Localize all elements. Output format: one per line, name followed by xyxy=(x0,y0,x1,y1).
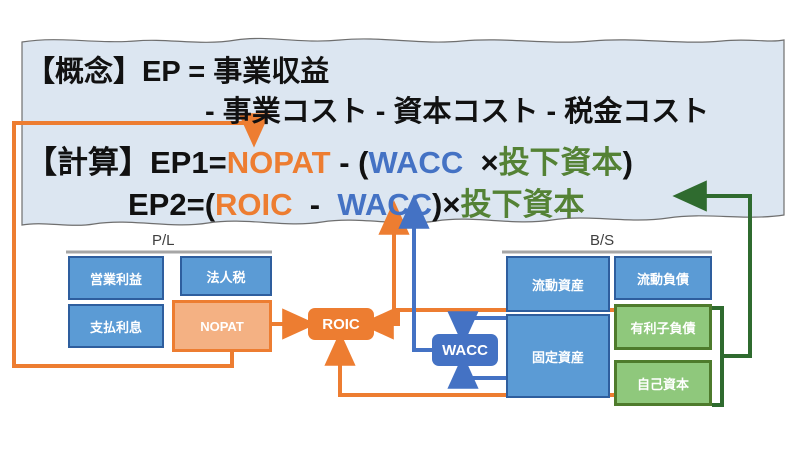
bs-box-current-assets-label: 流動資産 xyxy=(532,275,584,294)
roic-node-label: ROIC xyxy=(322,316,360,333)
pl-title: P/L xyxy=(152,232,175,249)
ep2-name: EP2 xyxy=(128,187,187,222)
pl-box-nopat: NOPAT xyxy=(172,300,272,352)
concept-line-1: 【概念】EP = 事業収益 xyxy=(26,48,329,90)
ep2-term-wacc: WACC xyxy=(337,187,432,222)
ep1-term-nopat: NOPAT xyxy=(227,145,331,180)
concept-line-2: - 事業コスト - 資本コスト - 税金コスト xyxy=(205,88,709,130)
bs-box-current-liabilities-label: 流動負債 xyxy=(637,269,689,288)
bs-box-shareholders-equity: 自己資本 xyxy=(614,360,712,406)
wacc-node-label: WACC xyxy=(442,342,488,359)
pl-box-corporate-tax: 法人税 xyxy=(180,256,272,296)
blue-wacc-to-formula-line xyxy=(414,208,432,350)
bs-box-current-liabilities: 流動負債 xyxy=(614,256,712,300)
ep2-times: × xyxy=(442,187,460,222)
ep2-term-roic: ROIC xyxy=(215,187,293,222)
pl-box-interest-expense-label: 支払利息 xyxy=(90,317,142,336)
ep1-term-capital: 投下資本 xyxy=(499,145,623,180)
roic-node: ROIC xyxy=(308,308,374,340)
pl-box-nopat-label: NOPAT xyxy=(200,319,244,334)
concept-label: 【概念】EP xyxy=(26,56,180,88)
pl-box-interest-expense: 支払利息 xyxy=(68,304,164,348)
calc-line-ep2: EP2=(ROIC - WACC)×投下資本 xyxy=(128,179,584,224)
calc-label: 【計算】 xyxy=(26,145,150,180)
pl-box-operating-profit: 営業利益 xyxy=(68,256,164,300)
concept-equals: = xyxy=(180,56,213,88)
bs-box-interest-bearing-debt: 有利子負債 xyxy=(614,304,712,350)
blue-bs-lower-to-wacc-arrow xyxy=(463,368,506,378)
bs-box-fixed-assets: 固定資産 xyxy=(506,314,610,398)
ep1-times: × xyxy=(463,145,498,180)
ep1-term-wacc: WACC xyxy=(369,145,464,180)
green-bracket xyxy=(712,308,722,405)
pl-box-corporate-tax-label: 法人税 xyxy=(206,267,245,286)
orange-roic-to-formula-line xyxy=(378,214,394,324)
pl-box-operating-profit-label: 営業利益 xyxy=(90,269,142,288)
ep1-equals: = xyxy=(209,145,227,180)
ep1-close-paren: ) xyxy=(623,145,633,180)
calc-line-ep1: 【計算】EP1=NOPAT - (WACC ×投下資本) xyxy=(26,137,633,182)
ep2-minus: - xyxy=(293,187,338,222)
bs-title: B/S xyxy=(590,232,614,249)
ep1-name: EP1 xyxy=(150,145,209,180)
ep2-close-paren: ) xyxy=(432,187,442,222)
ep1-minus-open: - ( xyxy=(331,145,369,180)
bs-box-shareholders-equity-label: 自己資本 xyxy=(637,374,689,393)
bs-box-fixed-assets-label: 固定資産 xyxy=(532,347,584,366)
wacc-node: WACC xyxy=(432,334,498,366)
ep2-term-capital: 投下資本 xyxy=(460,187,584,222)
concept-revenue: 事業収益 xyxy=(213,56,329,88)
bs-box-interest-bearing-debt-label: 有利子負債 xyxy=(630,318,695,337)
diagram-canvas: 【概念】EP = 事業収益 - 事業コスト - 資本コスト - 税金コスト 【計… xyxy=(0,0,800,450)
concept-costs: - 事業コスト - 資本コスト - 税金コスト xyxy=(205,96,709,128)
blue-bs-upper-to-wacc-arrow xyxy=(463,318,506,332)
ep2-equals-open: =( xyxy=(187,187,215,222)
bs-box-current-assets: 流動資産 xyxy=(506,256,610,312)
